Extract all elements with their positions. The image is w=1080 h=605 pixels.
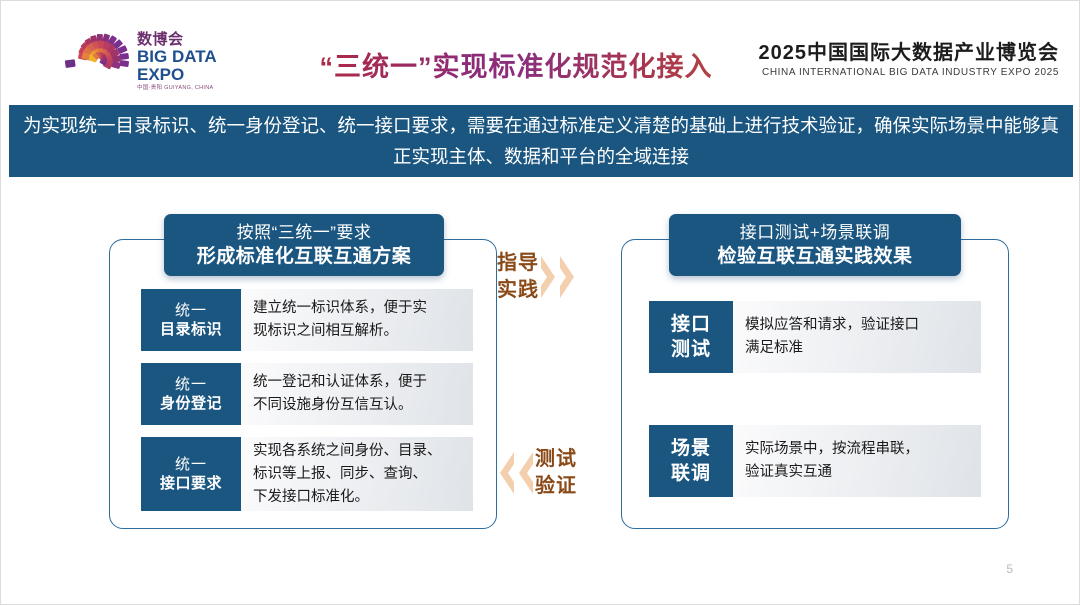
connector-guide-practice: 指导 实践 — [497, 241, 627, 313]
item-tag-line1: 场景 — [671, 436, 711, 461]
chevron-left-icon — [497, 450, 516, 496]
expo-brand-english: CHINA INTERNATIONAL BIG DATA INDUSTRY EX… — [759, 66, 1060, 80]
item-tag: 统一 身份登记 — [141, 363, 241, 425]
item-description-line: 实际场景中，按流程串联， — [745, 438, 971, 461]
item-description-line: 建立统一标识体系，便于实 — [253, 297, 463, 320]
item-description: 建立统一标识体系，便于实 现标识之间相互解析。 — [241, 289, 473, 351]
double-chevron-left-icon — [497, 450, 535, 496]
item-tag-line1: 统一 — [175, 301, 207, 320]
item-tag-line2: 接口要求 — [160, 474, 222, 494]
item-description-line: 不同设施身份互信互认。 — [253, 394, 463, 417]
left-panel-header: 按照“三统一”要求 形成标准化互联互通方案 — [164, 214, 444, 276]
item-description-line: 标识等上报、同步、查询、 — [253, 463, 463, 486]
left-panel-header-line2: 形成标准化互联互通方案 — [197, 244, 412, 269]
item-description-line: 满足标准 — [745, 337, 971, 360]
connector-test-verify: 测试 验证 — [497, 437, 627, 509]
item-description: 实际场景中，按流程串联， 验证真实互通 — [733, 425, 981, 497]
item-tag-line2: 目录标识 — [160, 320, 222, 340]
double-chevron-right-icon — [539, 254, 577, 300]
item-description-line: 实现各系统之间身份、目录、 — [253, 440, 463, 463]
item-description: 统一登记和认证体系，便于 不同设施身份互信互认。 — [241, 363, 473, 425]
item-tag-line1: 统一 — [175, 455, 207, 474]
chevron-right-icon — [539, 254, 558, 300]
item-description-line: 现标识之间相互解析。 — [253, 320, 463, 343]
item-description-line: 统一登记和认证体系，便于 — [253, 371, 463, 394]
summary-banner-text: 为实现统一目录标识、统一身份登记、统一接口要求，需要在通过标准定义清楚的基础上进… — [9, 110, 1073, 172]
item-tag-line1: 统一 — [175, 375, 207, 394]
item-description-line: 验证真实互通 — [745, 461, 971, 484]
logo-location-subtitle: 中国·贵阳 GUIYANG, CHINA — [137, 84, 227, 93]
connector-label-line1: 指导 — [497, 250, 539, 277]
item-description: 实现各系统之间身份、目录、 标识等上报、同步、查询、 下发接口标准化。 — [241, 437, 473, 511]
connector-label: 指导 实践 — [497, 250, 539, 304]
item-tag-line2: 测试 — [671, 337, 711, 362]
slide-canvas: 数博会 BIG DATA EXPO 中国·贵阳 GUIYANG, CHINA “… — [0, 0, 1080, 605]
expo-brand-chinese: 2025中国国际大数据产业博览会 — [759, 41, 1060, 66]
chevron-left-icon — [516, 450, 535, 496]
connector-label-line1: 测试 — [535, 446, 577, 473]
connector-label: 测试 验证 — [535, 446, 577, 500]
list-item[interactable]: 统一 目录标识 建立统一标识体系，便于实 现标识之间相互解析。 — [141, 289, 473, 351]
expo-logo-text: 数博会 BIG DATA EXPO 中国·贵阳 GUIYANG, CHINA — [137, 31, 227, 93]
right-panel-header-line1: 接口测试+场景联调 — [740, 222, 890, 244]
logo-english-line2: EXPO — [137, 66, 227, 84]
page-title: “三统一”实现标准化规范化接入 — [281, 45, 751, 84]
right-panel-header: 接口测试+场景联调 检验互联互通实践效果 — [669, 214, 961, 276]
item-tag: 场景 联调 — [649, 425, 733, 497]
item-tag: 统一 目录标识 — [141, 289, 241, 351]
item-description: 模拟应答和请求，验证接口 满足标准 — [733, 301, 981, 373]
slide-header: 数博会 BIG DATA EXPO 中国·贵阳 GUIYANG, CHINA “… — [1, 1, 1080, 101]
connector-label-line2: 验证 — [535, 473, 577, 500]
list-item[interactable]: 场景 联调 实际场景中，按流程串联， 验证真实互通 — [649, 425, 981, 497]
item-tag-line1: 接口 — [671, 312, 711, 337]
list-item[interactable]: 统一 接口要求 实现各系统之间身份、目录、 标识等上报、同步、查询、 下发接口标… — [141, 437, 473, 511]
item-description-line: 模拟应答和请求，验证接口 — [745, 314, 971, 337]
logo-chinese-name: 数博会 — [137, 31, 227, 48]
list-item[interactable]: 统一 身份登记 统一登记和认证体系，便于 不同设施身份互信互认。 — [141, 363, 473, 425]
chevron-right-icon — [558, 254, 577, 300]
item-tag: 接口 测试 — [649, 301, 733, 373]
item-tag-line2: 身份登记 — [160, 394, 222, 414]
item-tag-line2: 联调 — [671, 461, 711, 486]
page-number: 5 — [1006, 562, 1013, 576]
big-data-expo-swirl-logo-icon — [63, 27, 135, 93]
connector-label-line2: 实践 — [497, 277, 539, 304]
summary-banner: 为实现统一目录标识、统一身份登记、统一接口要求，需要在通过标准定义清楚的基础上进… — [9, 105, 1073, 177]
logo-english-line1: BIG DATA — [137, 48, 227, 66]
right-panel-header-line2: 检验互联互通实践效果 — [717, 244, 912, 269]
expo-logo: 数博会 BIG DATA EXPO 中国·贵阳 GUIYANG, CHINA — [63, 25, 213, 95]
item-description-line: 下发接口标准化。 — [253, 486, 463, 509]
expo-brand-block: 2025中国国际大数据产业博览会 CHINA INTERNATIONAL BIG… — [759, 41, 1060, 80]
left-panel-header-line1: 按照“三统一”要求 — [237, 222, 372, 244]
list-item[interactable]: 接口 测试 模拟应答和请求，验证接口 满足标准 — [649, 301, 981, 373]
item-tag: 统一 接口要求 — [141, 437, 241, 511]
